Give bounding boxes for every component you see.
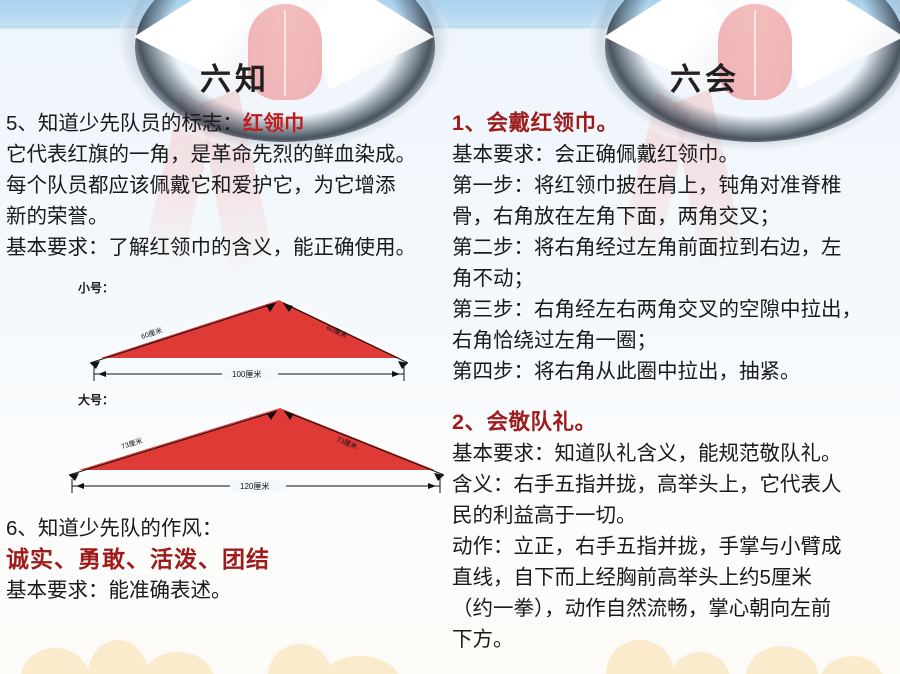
item1-line: 骨，右角放在左角下面，两角交叉； [452, 201, 892, 232]
item2-line: 下方。 [452, 624, 892, 655]
item6-heading: 6、知道少先队的作风： [6, 513, 446, 544]
item2-heading: 2、会敬队礼。 [452, 407, 892, 438]
item5-heading: 5、知道少先队员的标志：红领巾 [6, 108, 446, 139]
item2-line: 动作：立正，右手五指并拢，手掌与小臂成 [452, 531, 892, 562]
item5-body-line: 每个队员都应该佩戴它和爱护它，为它增添 [6, 170, 446, 201]
item2-line: 民的利益高于一切。 [452, 500, 892, 531]
item5-heading-highlight: 红领巾 [243, 112, 305, 135]
item2-line: 基本要求：知道队礼含义，能规范敬队礼。 [452, 438, 892, 469]
scarf-large-base-label: 120厘米 [240, 481, 269, 491]
item5-body-line: 它代表红旗的一角，是革命先烈的鲜血染成。 [6, 139, 446, 170]
item1-heading: 1、会戴红领巾。 [452, 108, 892, 139]
item1-line: 右角恰绕过左角一圈； [452, 325, 892, 356]
item1-line: 角不动； [452, 263, 892, 294]
slide-canvas: 六知 六会 5、知道少先队员的标志：红领巾 它代表红旗的一角，是革命先烈的鲜血染… [0, 0, 900, 674]
item1-line: 第三步：右角经左右两角交叉的空隙中拉出， [452, 294, 892, 325]
section-title-left: 六知 [115, 54, 355, 99]
section-title-right: 六会 [585, 54, 825, 99]
left-column: 5、知道少先队员的标志：红领巾 它代表红旗的一角，是革命先烈的鲜血染成。 每个队… [6, 108, 446, 606]
item1-line: 第一步：将红领巾披在肩上，钝角对准脊椎 [452, 170, 892, 201]
scarf-small-base-label: 100厘米 [232, 369, 261, 379]
item1-line: 第二步：将右角经过左角前面拉到右边，左 [452, 232, 892, 263]
item6-requirement: 基本要求：能准确表述。 [6, 575, 446, 606]
item6-highlight: 诚实、勇敢、活泼、团结 [6, 544, 446, 575]
item2-line: 含义：右手五指并拢，高举头上，它代表人 [452, 469, 892, 500]
right-column: 1、会戴红领巾。 基本要求：会正确佩戴红领巾。 第一步：将红领巾披在肩上，钝角对… [452, 108, 892, 655]
item2-line: 直线，自下而上经胸前高举头上约5厘米 [452, 562, 892, 593]
item5-heading-prefix: 5、知道少先队员的标志： [6, 112, 243, 135]
scarf-diagram-large: 大号： 73厘米 73厘米 120厘米 [64, 389, 464, 497]
item2-line: （约一拳），动作自然流畅，掌心朝向左前 [452, 593, 892, 624]
item5-body-line: 基本要求：了解红领巾的含义，能正确使用。 [6, 232, 446, 263]
item1-line: 基本要求：会正确佩戴红领巾。 [452, 139, 892, 170]
scarf-diagram-small: 小号： 60厘米 60厘米 100厘米 [64, 277, 464, 385]
item5-body-line: 新的荣誉。 [6, 201, 446, 232]
item1-line: 第四步：将右角从此圈中拉出，抽紧。 [452, 356, 892, 387]
scarf-large-left-side-label: 73厘米 [120, 436, 143, 451]
